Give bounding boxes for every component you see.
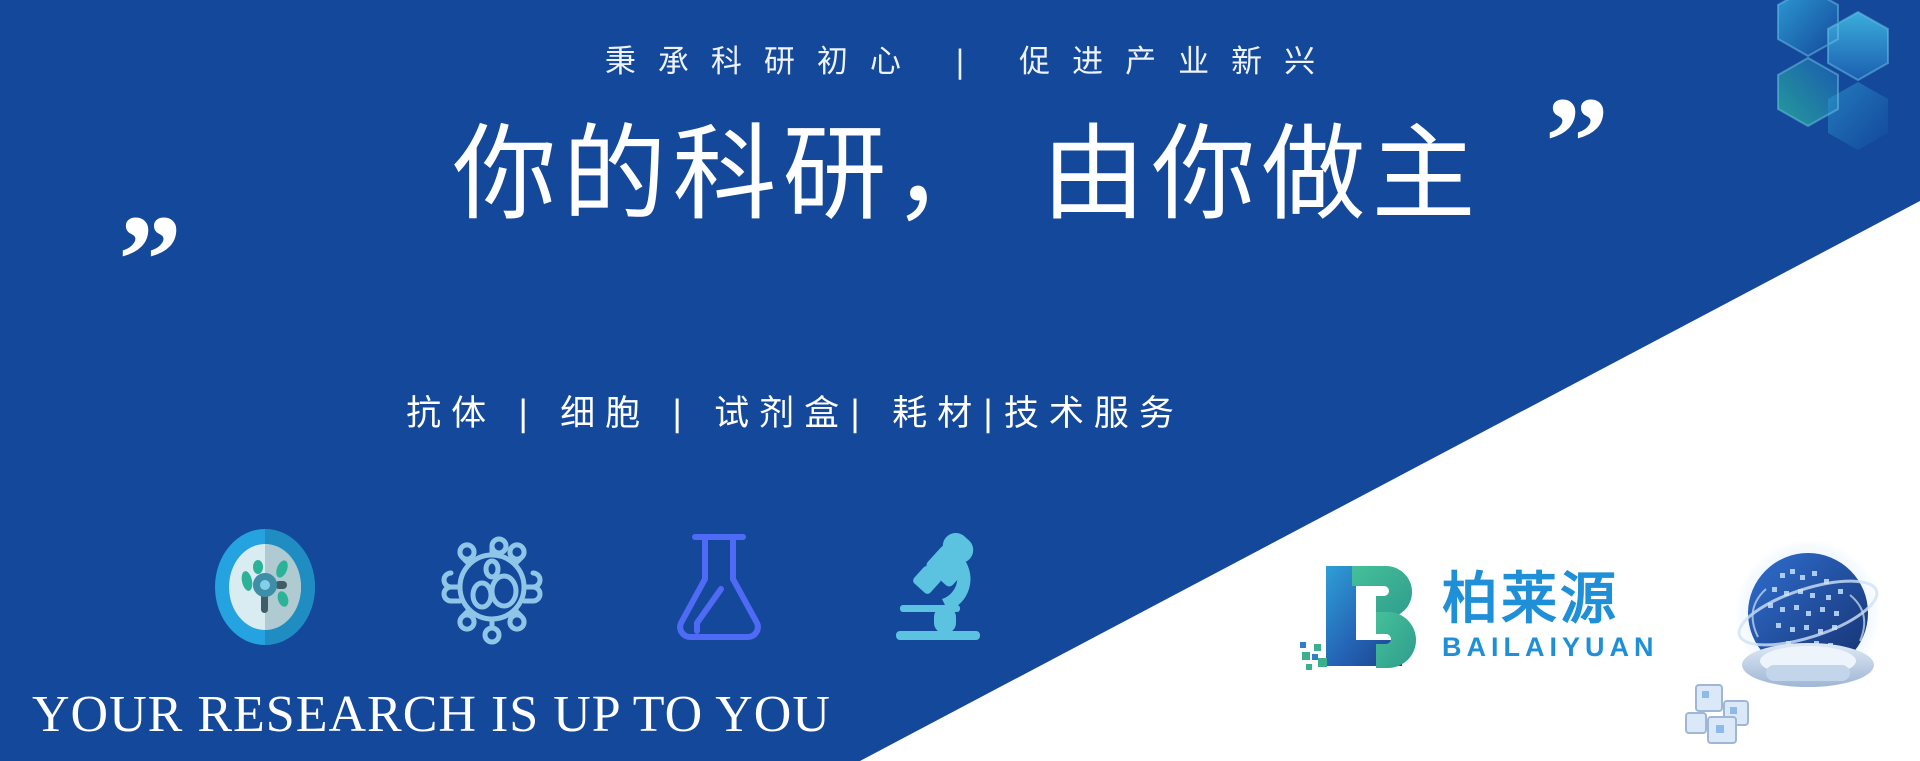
- english-tagline: YOUR RESEARCH IS UP TO YOU: [32, 685, 831, 744]
- marketing-banner: ” ” 秉承科研初心 | 促进产业新兴 你的科研， 由你做主 抗体 | 细胞 |…: [0, 0, 1920, 761]
- logo-monogram-icon: [1300, 560, 1428, 672]
- microscope-icon: [886, 527, 1006, 647]
- top-tagline: 秉承科研初心 | 促进产业新兴: [0, 36, 1920, 81]
- icon-row: [205, 527, 1006, 647]
- product-category-list: 抗体 | 细胞 | 试剂盒| 耗材|技术服务: [0, 385, 1920, 436]
- logo-text: 柏莱源 BAILAIYUAN: [1442, 572, 1659, 661]
- tech-globe-decoration: [1680, 535, 1920, 761]
- headline: 你的科研， 由你做主: [0, 120, 1920, 229]
- logo-name-en: BAILAIYUAN: [1442, 634, 1659, 661]
- virus-icon: [432, 527, 552, 647]
- flask-icon: [659, 527, 779, 647]
- company-logo[interactable]: 柏莱源 BAILAIYUAN: [1300, 560, 1659, 672]
- logo-name-cn: 柏莱源: [1442, 572, 1659, 628]
- cell-icon: [205, 527, 325, 647]
